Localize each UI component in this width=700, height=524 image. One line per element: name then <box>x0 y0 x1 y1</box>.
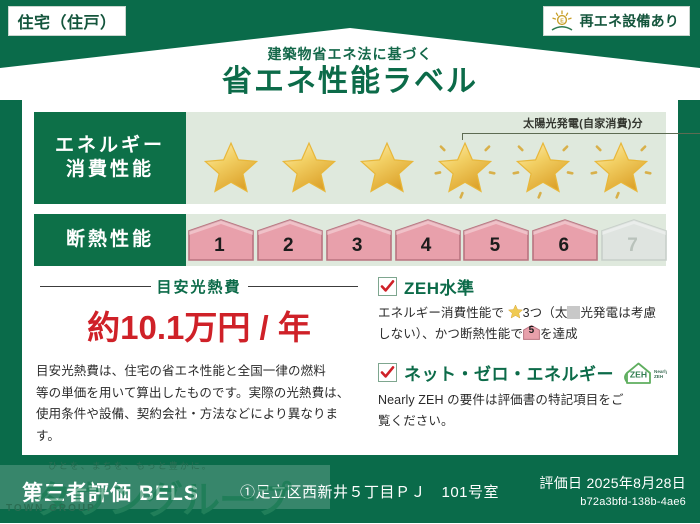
heading-rule-left <box>40 286 151 287</box>
star-icon <box>194 138 268 200</box>
property-address: ①足立区西新井５丁目ＰＪ 101号室 <box>240 481 499 502</box>
label-title: 建築物省エネ法に基づく 省エネ性能ラベル <box>0 44 700 98</box>
utility-cost-heading: 目安光熱費 <box>34 276 364 297</box>
zeh-desc-part-c: 光発電 <box>580 306 618 320</box>
zeh-standard-title-row: ZEH水準 <box>378 274 668 299</box>
insulation-grade-value: 2 <box>283 235 294 262</box>
svg-text:ZEH: ZEH <box>654 374 664 379</box>
net-zero-energy-block: ネット・ゼロ・エネルギー ZEH Nearly ZEH Nearly ZEH の… <box>378 360 668 433</box>
insulation-grade-scale: 1234567 <box>186 214 666 266</box>
check-icon <box>380 279 395 294</box>
star-icon <box>428 138 502 200</box>
label-main-title: 省エネ性能ラベル <box>0 65 700 98</box>
insulation-performance-row: 断熱性能 1234567 <box>34 214 666 266</box>
evaluation-date: 評価日 2025年8月28日 <box>539 473 686 493</box>
solar-annotation-label: 太陽光発電(自家消費)分 <box>458 115 700 131</box>
insulation-grade-4: 4 <box>393 218 460 262</box>
net-zero-desc-line1: Nearly ZEH の要件は評価書の特記項目をご <box>378 390 668 411</box>
star-rating <box>186 138 666 200</box>
star-5 <box>506 138 580 200</box>
zeh-desc-part-b: 3つ（太 <box>523 306 568 320</box>
svg-text:E: E <box>560 19 564 25</box>
utility-cost-note: 目安光熱費は、住宅の省エネ性能と全国一律の燃料 等の単価を用いて算出したものです… <box>34 361 364 447</box>
insulation-grade-6: 6 <box>530 218 597 262</box>
net-zero-description: Nearly ZEH の要件は評価書の特記項目をご 覧ください。 <box>378 390 668 433</box>
check-icon <box>380 365 395 380</box>
insulation-grade-1: 1 <box>186 218 253 262</box>
star-3 <box>350 138 424 200</box>
net-zero-title-row: ネット・ゼロ・エネルギー ZEH Nearly ZEH <box>378 360 668 386</box>
utility-cost-note-line2: 等の単価を用いて算出したものです。実際の光熱費は、 <box>36 383 362 405</box>
zeh-standard-title: ZEH水準 <box>404 274 475 299</box>
star-icon <box>506 138 580 200</box>
renewable-energy-badge-label: 再エネ設備あり <box>580 11 679 31</box>
insulation-grade-value: 3 <box>352 235 363 262</box>
zeh-section: ZEH水準 エネルギー消費性能で 3つ（太光発電は考慮しない）、かつ断熱性能で … <box>378 274 668 446</box>
third-party-evaluation-label: 第三者評価 BELS <box>22 477 199 507</box>
star-icon <box>272 138 346 200</box>
utility-cost-section: 目安光熱費 約10.1万円 / 年 目安光熱費は、住宅の省エネ性能と全国一律の燃… <box>34 276 364 447</box>
building-type-tab: 住宅（住戸） <box>8 6 126 36</box>
star-6 <box>584 138 658 200</box>
star-icon <box>584 138 658 200</box>
insulation-grade-value: 6 <box>558 235 569 262</box>
star-2 <box>272 138 346 200</box>
insulation-grade-7: 7 <box>599 218 666 262</box>
energy-label-line2: 消費性能 <box>66 158 154 182</box>
net-zero-checkbox <box>378 363 397 382</box>
evaluation-date-block: 評価日 2025年8月28日 b72a3bfd-138b-4ae6 <box>539 473 686 508</box>
solar-generation-annotation: 太陽光発電(自家消費)分 <box>458 115 700 140</box>
zeh-standard-block: ZEH水準 エネルギー消費性能で 3つ（太光発電は考慮しない）、かつ断熱性能で … <box>378 274 668 346</box>
label-footer: 第三者評価 BELS ①足立区西新井５丁目ＰＪ 101号室 評価日 2025年8… <box>0 463 700 523</box>
insulation-grades-area: 1234567 <box>186 214 666 266</box>
insulation-grade-2: 2 <box>255 218 322 262</box>
utility-cost-heading-label: 目安光熱費 <box>157 276 242 297</box>
insulation-grade-value: 1 <box>214 235 225 262</box>
zeh-desc-part-a: エネルギー消費性能で <box>378 306 504 320</box>
utility-cost-value: 約10.1万円 / 年 <box>34 301 364 349</box>
insulation-grade-5: 5 <box>461 218 528 262</box>
zeh-logo-icon: ZEH Nearly ZEH <box>621 360 667 386</box>
utility-cost-note-line3: 使用条件や設備、契約会社・方法などにより異なります。 <box>36 404 362 447</box>
net-zero-title: ネット・ゼロ・エネルギー <box>404 360 614 385</box>
renewable-energy-badge: E 再エネ設備あり <box>543 6 690 36</box>
energy-performance-stars-area: 太陽光発電(自家消費)分 <box>186 112 666 204</box>
sun-icon: E <box>550 10 574 32</box>
label-card: エネルギー 消費性能 太陽光発電(自家消費)分 断熱性能 1234567 <box>22 100 678 455</box>
energy-label-line1: エネルギー <box>55 134 165 158</box>
insulation-grade-3: 3 <box>324 218 391 262</box>
insulation-grade-value: 5 <box>490 235 501 262</box>
document-id: b72a3bfd-138b-4ae6 <box>539 496 686 508</box>
energy-performance-row: エネルギー 消費性能 太陽光発電(自家消費)分 <box>34 112 666 204</box>
inline-grade-badge: 5 <box>523 325 540 340</box>
label-subtitle: 建築物省エネ法に基づく <box>0 44 700 64</box>
star-1 <box>194 138 268 200</box>
svg-text:ZEH: ZEH <box>630 369 647 379</box>
zeh-standard-checkbox <box>378 277 397 296</box>
net-zero-desc-line2: 覧ください。 <box>378 411 668 432</box>
utility-cost-note-line1: 目安光熱費は、住宅の省エネ性能と全国一律の燃料 <box>36 361 362 383</box>
heading-rule-right <box>248 286 359 287</box>
energy-performance-label: 住宅（住戸） E 再エネ設備あり 建築物省エネ法に基づく 省エネ性能ラベル エネ… <box>0 0 700 523</box>
star-4 <box>428 138 502 200</box>
star-icon <box>508 304 523 319</box>
insulation-grade-value: 4 <box>421 235 432 262</box>
energy-performance-label-cell: エネルギー 消費性能 <box>34 112 186 204</box>
insulation-grade-value: 7 <box>627 235 638 262</box>
redaction-block <box>567 306 580 319</box>
inline-grade-value: 5 <box>523 325 540 340</box>
insulation-performance-label-cell: 断熱性能 <box>34 214 186 266</box>
zeh-standard-description: エネルギー消費性能で 3つ（太光発電は考慮しない）、かつ断熱性能で 5 を達成 <box>378 303 668 346</box>
star-icon <box>350 138 424 200</box>
zeh-desc-part-e: を達成 <box>540 327 578 341</box>
